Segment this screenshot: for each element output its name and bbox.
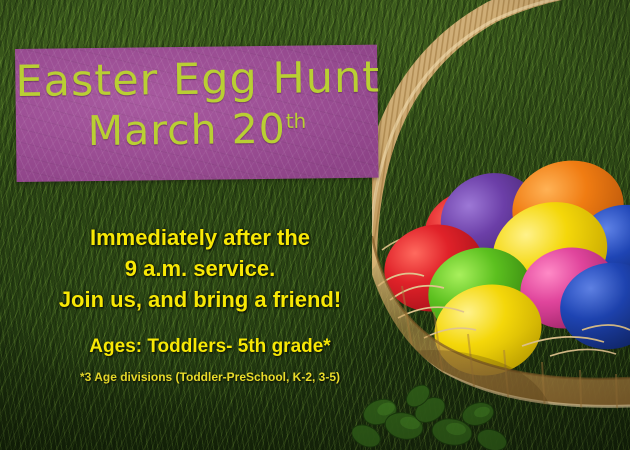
easter-egg-hunt-poster: Easter Egg Hunt March 20th Immediately a… [0,0,630,450]
vignette-overlay [0,0,630,450]
